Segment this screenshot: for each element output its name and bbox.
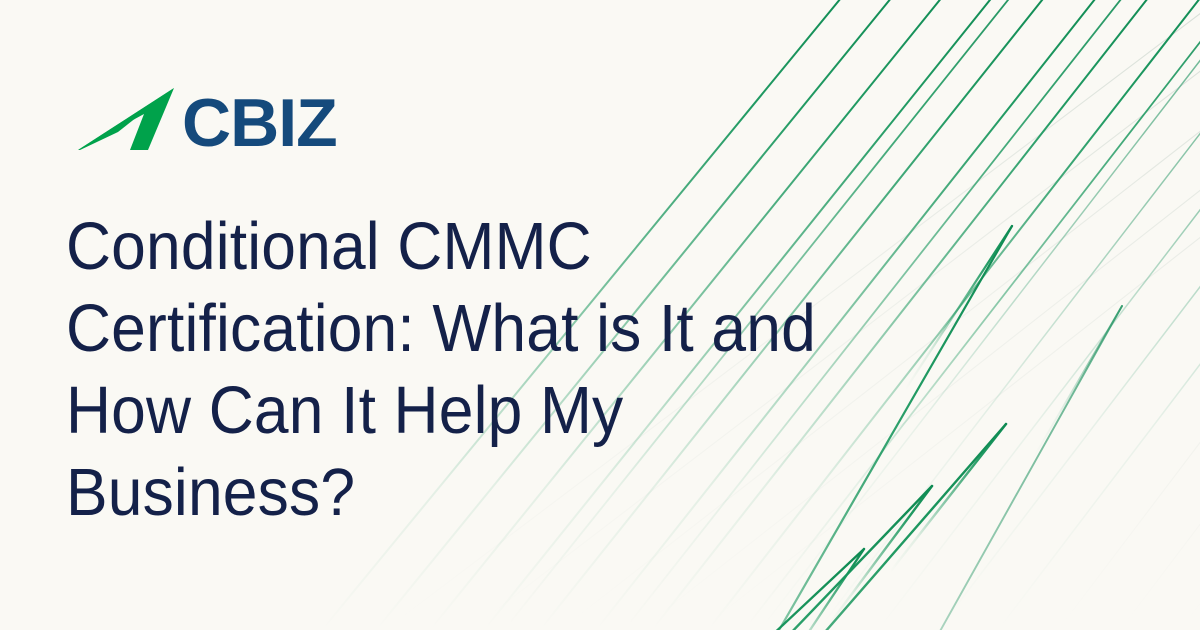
green-swoosh-arrow-icon (78, 88, 174, 150)
page-title: Conditional CMMC Certification: What is … (66, 206, 966, 534)
headline-line-4: Business? (66, 452, 903, 534)
headline-line-2: Certification: What is It and (66, 288, 903, 370)
headline-line-3: How Can It Help My (66, 370, 903, 452)
cbiz-logo[interactable]: CBIZ (78, 86, 374, 158)
social-share-card: CBIZ Conditional CMMC Certification: Wha… (0, 0, 1200, 630)
cbiz-wordmark: CBIZ (182, 86, 337, 158)
cbiz-logo-svg: CBIZ (78, 86, 374, 158)
headline-line-1: Conditional CMMC (66, 206, 903, 288)
